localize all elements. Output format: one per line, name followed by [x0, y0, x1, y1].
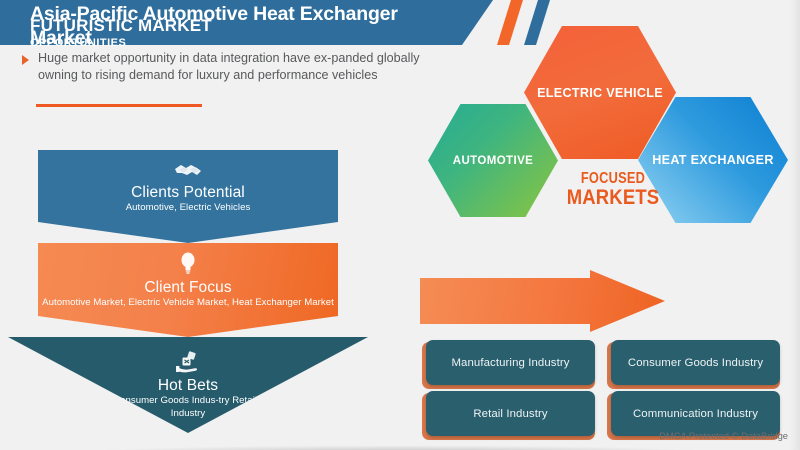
- industry-box-label: Retail Industry: [426, 391, 595, 436]
- header-stripe-orange-icon: [497, 0, 523, 45]
- subtitle-block: Huge market opportunity in data integrat…: [22, 50, 422, 84]
- funnel-step-title: Clients Potential: [38, 184, 338, 202]
- industry-box-manufacturing[interactable]: Manufacturing Industry: [422, 340, 595, 387]
- title-underline-rule: [36, 104, 202, 107]
- bullet-triangle-icon: [22, 55, 29, 65]
- futuristic-market-arrow: [420, 270, 665, 332]
- industry-box-retail[interactable]: Retail Industry: [422, 391, 595, 438]
- funnel-step-detail: Automotive, Electric Vehicles: [38, 202, 338, 215]
- focused-markets-label: FOCUSED MARKETS: [548, 170, 678, 210]
- futuristic-market-title: FUTURISTIC MARKET: [30, 16, 212, 36]
- funnel-step-client-focus[interactable]: Client Focus Automotive Market, Electric…: [38, 243, 338, 337]
- handshake-icon: [173, 160, 203, 180]
- hexagon-electric-vehicle-label: ELECTRIC VEHICLE: [537, 86, 663, 100]
- hexagon-automotive[interactable]: AUTOMOTIVE: [428, 104, 558, 217]
- funnel-step-detail: Manufacturing Industry Consumer Goods In…: [8, 395, 368, 420]
- lightbulb-icon: [178, 251, 198, 275]
- hand-dice-icon: [175, 351, 201, 373]
- industry-box-label: Consumer Goods Industry: [611, 340, 780, 385]
- subtitle-text: Huge market opportunity in data integrat…: [38, 50, 422, 84]
- funnel-step-detail: Automotive Market, Electric Vehicle Mark…: [38, 297, 338, 310]
- funnel-step-hot-bets[interactable]: Hot Bets Manufacturing Industry Consumer…: [8, 337, 368, 433]
- slide-canvas: Asia-Pacific Automotive Heat Exchanger M…: [0, 0, 800, 450]
- focused-markets-line2: MARKETS: [556, 186, 670, 210]
- header-stripe-blue-icon: [524, 0, 550, 45]
- bottom-edge-shadow: [0, 438, 800, 450]
- funnel-step-clients-potential[interactable]: Clients Potential Automotive, Electric V…: [38, 150, 338, 243]
- funnel-step-title: Client Focus: [38, 279, 338, 297]
- futuristic-market-subtitle: OPPORTUNITIES: [30, 37, 126, 49]
- industry-box-label: Manufacturing Industry: [426, 340, 595, 385]
- hexagon-heat-exchanger-label: HEAT EXCHANGER: [652, 153, 774, 168]
- hexagon-automotive-label: AUTOMOTIVE: [453, 155, 533, 167]
- right-edge-shadow: [790, 0, 800, 450]
- industry-box-consumer-goods[interactable]: Consumer Goods Industry: [607, 340, 780, 387]
- funnel-step-title: Hot Bets: [8, 377, 368, 395]
